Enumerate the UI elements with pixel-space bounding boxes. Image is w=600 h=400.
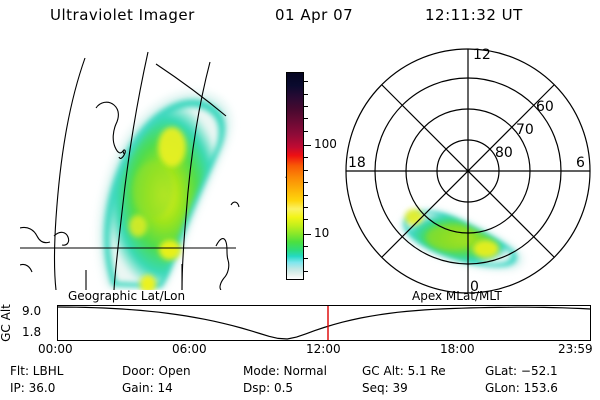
mlt-label-6: 6	[576, 155, 585, 171]
orbit-x-tick-label: 00:00	[38, 342, 73, 356]
instrument-title: Ultraviolet Imager	[50, 6, 195, 24]
status-footer: Flt: LBHL Door: Open Mode: Normal GC Alt…	[0, 362, 600, 400]
mlat-label-60: 60	[536, 99, 554, 115]
colorbar-gradient	[287, 73, 303, 279]
colorbar-minor-tick	[303, 258, 308, 259]
geographic-image-panel[interactable]	[20, 50, 270, 290]
orbit-altitude-strip[interactable]: Geographic Lat/Lon Apex MLat/MLT GC Alt …	[0, 288, 600, 356]
orbit-x-tick-label: 18:00	[440, 342, 475, 356]
status-ip: IP: 36.0	[10, 381, 55, 395]
polar-dial-svg: 12 18 6 0 60 70 80	[340, 45, 600, 295]
mlt-label-12: 12	[473, 47, 491, 63]
colorbar-tick-label: 100	[314, 138, 337, 150]
colorbar-minor-tick	[303, 170, 308, 171]
gc-alt-axis-label: GC Alt	[0, 304, 13, 342]
observation-date: 01 Apr 07	[275, 6, 353, 24]
status-gc-alt: GC Alt: 5.1 Re	[362, 364, 446, 378]
uvi-display-window: Ultraviolet Imager 01 Apr 07 12:11:32 UT	[0, 0, 600, 400]
orbit-altitude-curve	[58, 307, 590, 339]
geographic-map-svg	[20, 50, 270, 290]
orbit-plot-box[interactable]	[57, 305, 591, 341]
mlt-spokes	[346, 49, 590, 293]
colorbar-major-tick	[303, 234, 311, 235]
colorbar-minor-tick	[303, 271, 308, 272]
colorbar-minor-tick	[303, 207, 308, 208]
status-mode: Mode: Normal	[243, 364, 327, 378]
colorbar-minor-tick	[303, 195, 308, 196]
status-dsp: Dsp: 0.5	[243, 381, 293, 395]
colorbar-tick-label: 10	[314, 227, 329, 239]
status-seq: Seq: 39	[362, 381, 408, 395]
status-glon: GLon: 153.6	[485, 381, 558, 395]
orbit-y-tick-label: 9.0	[22, 304, 41, 318]
apex-track-label: Apex MLat/MLT	[412, 289, 502, 303]
status-glat: GLat: −52.1	[485, 364, 558, 378]
colorbar-minor-tick	[303, 106, 308, 107]
status-gain: Gain: 14	[122, 381, 173, 395]
header-bar: Ultraviolet Imager 01 Apr 07 12:11:32 UT	[0, 4, 600, 30]
mlt-label-18: 18	[348, 155, 366, 171]
orbit-altitude-curve-svg	[58, 306, 590, 340]
status-filter: Flt: LBHL	[10, 364, 63, 378]
colorbar-box	[286, 72, 304, 280]
orbit-x-tick-label: 06:00	[172, 342, 207, 356]
colorbar-minor-tick	[303, 246, 308, 247]
observation-time: 12:11:32 UT	[425, 6, 523, 24]
orbit-y-tick-label: 1.8	[22, 325, 41, 339]
colorbar-minor-tick	[303, 219, 308, 220]
colorbar-minor-tick	[303, 81, 308, 82]
colorbar-minor-tick	[303, 182, 308, 183]
colorbar-minor-tick	[303, 131, 308, 132]
colorbar-minor-tick	[303, 118, 308, 119]
geographic-track-label: Geographic Lat/Lon	[68, 289, 185, 303]
colorbar-minor-tick	[303, 157, 308, 158]
status-door: Door: Open	[122, 364, 191, 378]
mlat-label-80: 80	[495, 145, 513, 161]
mlat-label-70: 70	[516, 122, 534, 138]
colorbar-major-tick	[303, 145, 311, 146]
orbit-x-tick-label: 12:00	[306, 342, 341, 356]
orbit-x-tick-label: 23:59	[558, 342, 593, 356]
polar-dial-panel[interactable]: 12 18 6 0 60 70 80	[340, 45, 600, 295]
colorbar-minor-tick	[303, 94, 308, 95]
